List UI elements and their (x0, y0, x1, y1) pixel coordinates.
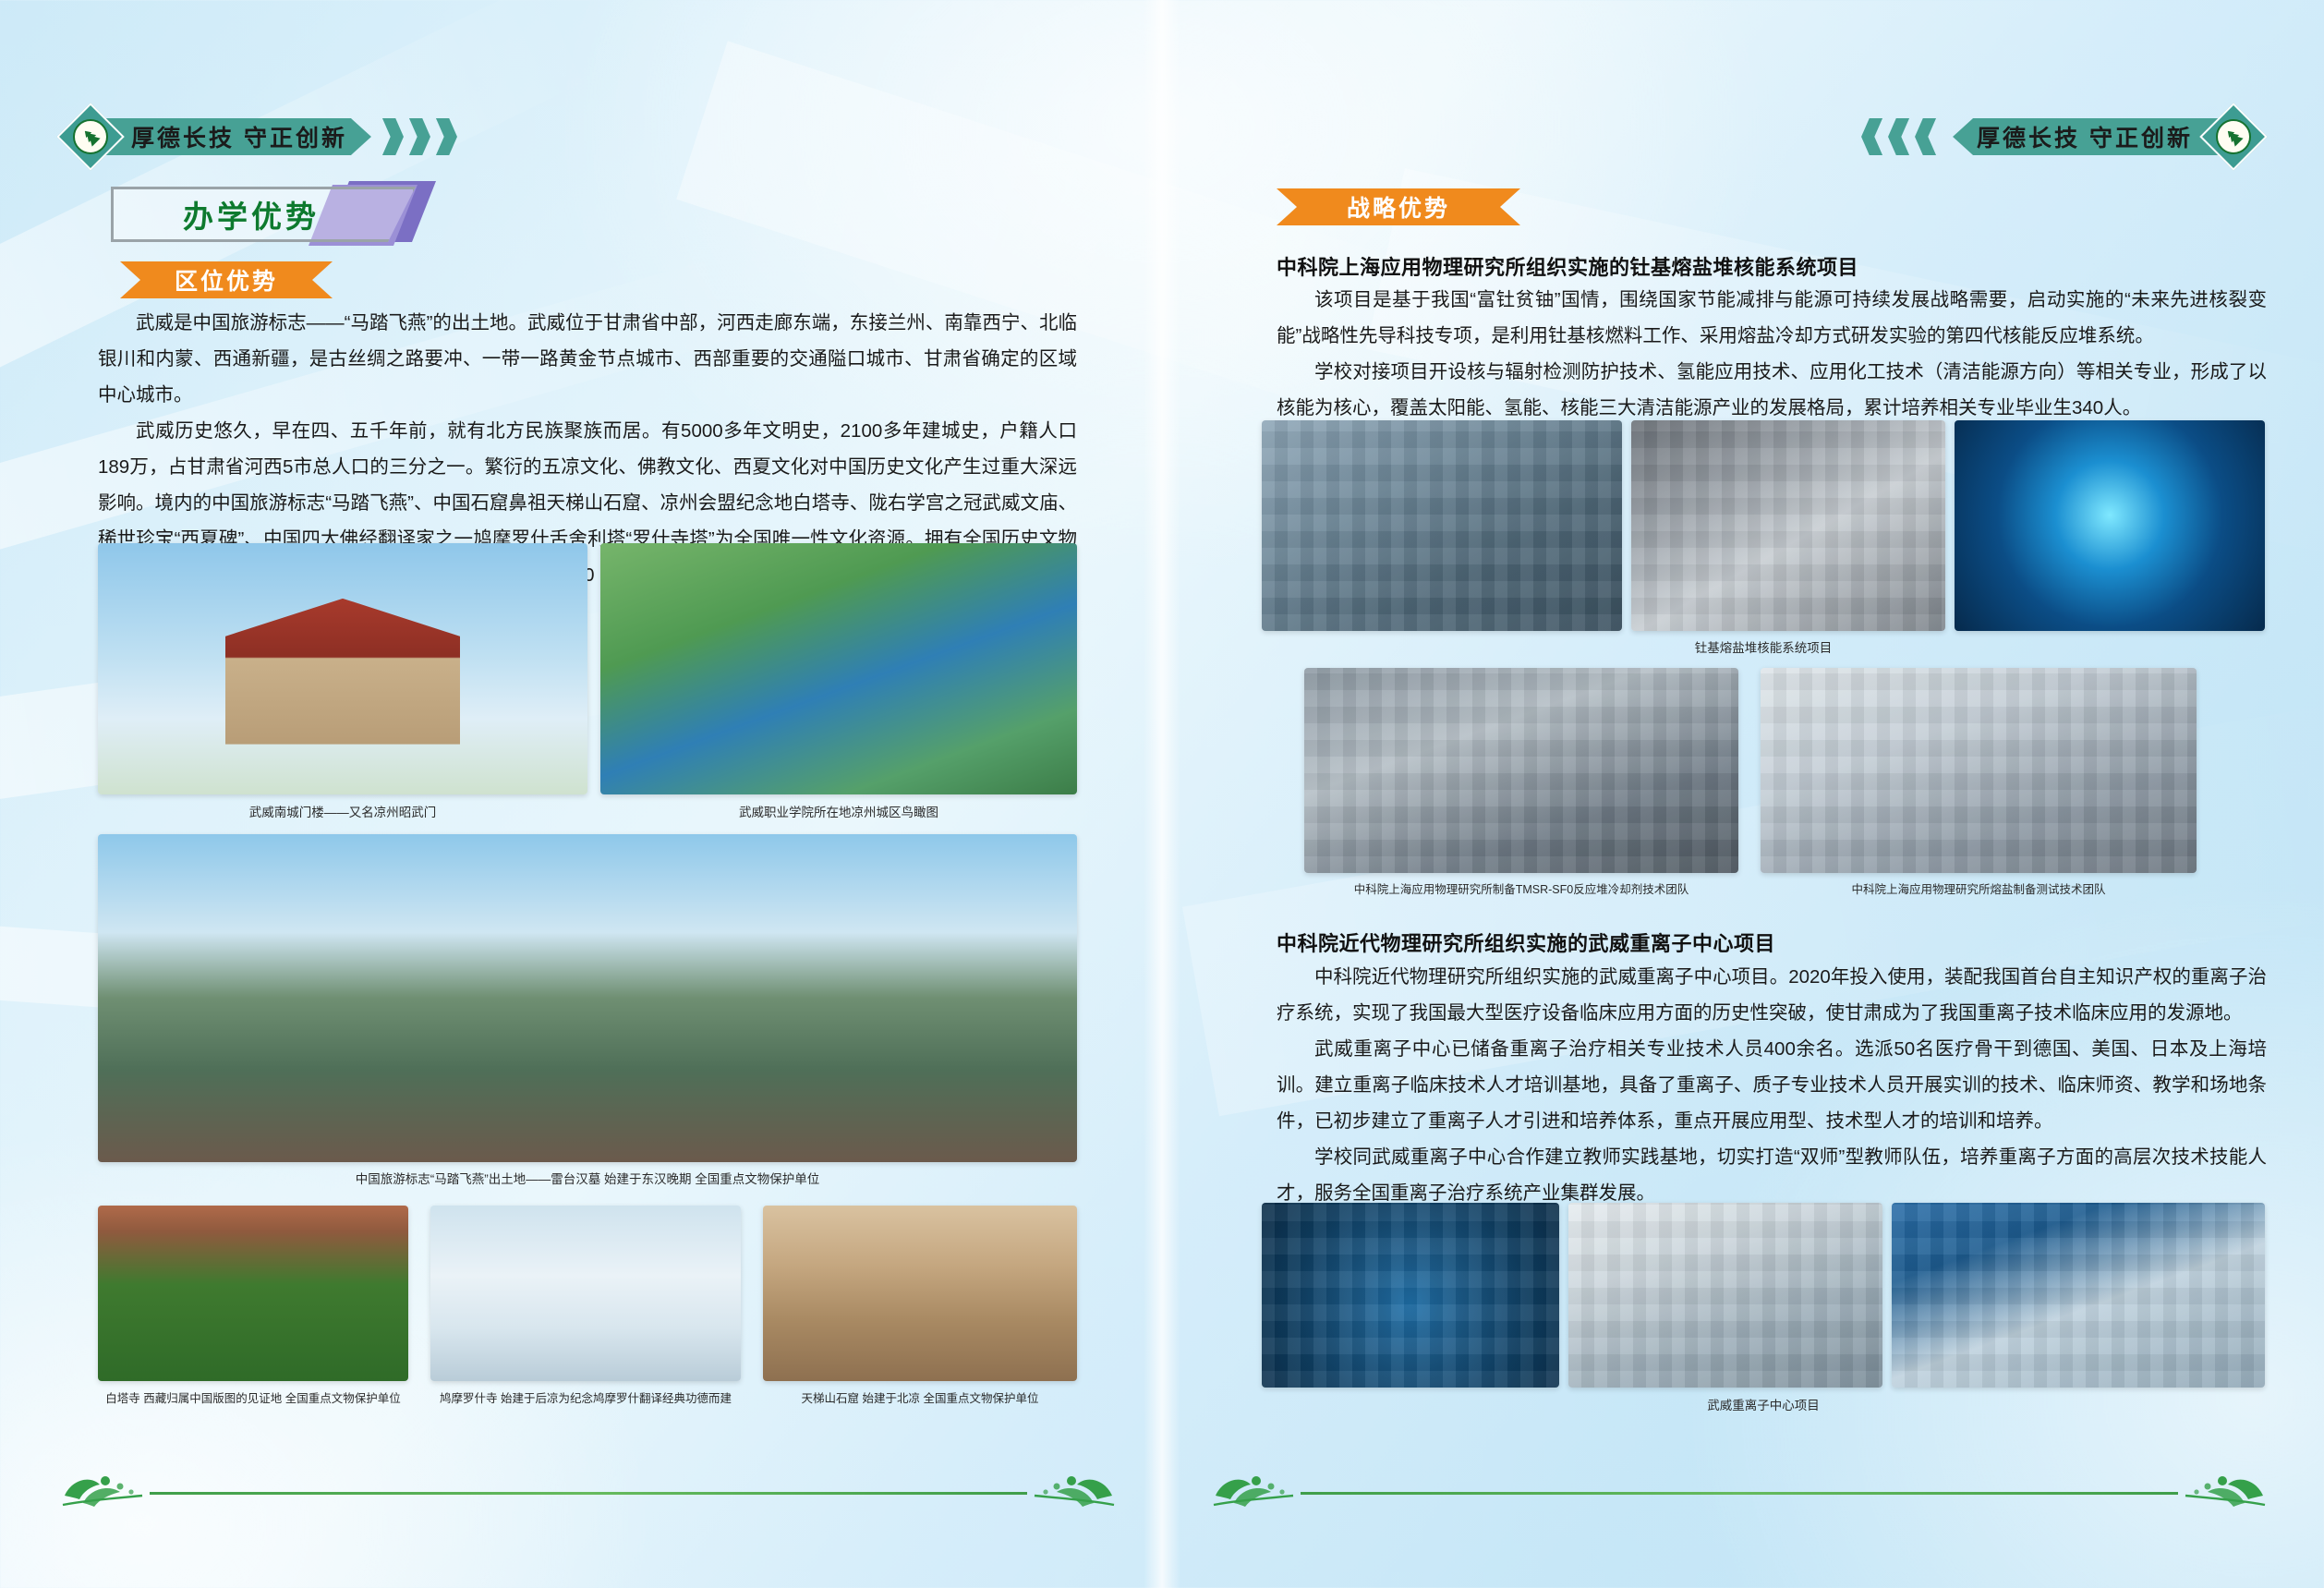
photo-caption: 中科院上海应用物理研究所制备TMSR-SF0反应堆冷却剂技术团队 (1286, 879, 1757, 897)
school-emblem-icon (56, 103, 125, 171)
leaf-flourish-icon (1029, 1468, 1118, 1509)
photo-caption: 武威南城门楼——又名凉州昭武门 (98, 802, 587, 820)
leaf-flourish-icon (1210, 1468, 1299, 1509)
paragraph: 学校对接项目开设核与辐射检测防护技术、氢能应用技术、应用化工技术（清洁能源方向）… (1277, 354, 2267, 426)
photo-control-console (1892, 1203, 2265, 1388)
chevron-group-icon (1861, 118, 1942, 155)
chevron-right-icon (382, 118, 404, 155)
photo-liangzhou-aerial-view (600, 543, 1077, 794)
paragraph: 武威是中国旅游标志——“马踏飞燕”的出土地。武威位于甘肃省中部，河西走廊东端，东… (98, 305, 1077, 413)
chevron-left-icon (1888, 118, 1909, 155)
page-title: 办学优势 (183, 192, 344, 236)
photo-caption: 天梯山石窟 始建于北凉 全国重点文物保护单位 (754, 1388, 1086, 1406)
paragraph: 学校同武威重离子中心合作建立教师实践基地，切实打造“双师”型教师队伍，培养重离子… (1277, 1139, 2267, 1211)
right-body-text-section2: 中科院近代物理研究所组织实施的武威重离子中心项目。2020年投入使用，装配我国首… (1277, 959, 2267, 1211)
photo-caption: 中国旅游标志“马踏飞燕”出土地——雷台汉墓 始建于东汉晚期 全国重点文物保护单位 (98, 1169, 1077, 1187)
footer-ornament-right (1217, 1468, 2261, 1510)
photo-caption: 鸠摩罗什寺 始建于后凉为纪念鸠摩罗什翻译经典功德而建 (421, 1388, 750, 1406)
photo-training-room (1568, 1203, 1882, 1388)
ribbon-label: 战略优势 (1347, 190, 1450, 224)
photo-tmsr-sf0-team (1304, 668, 1738, 873)
photo-caption: 中科院上海应用物理研究所熔盐制备测试技术团队 (1742, 879, 2215, 897)
ribbon-strategic-advantage: 战略优势 (1277, 188, 1520, 225)
title-plate-box: 办学优势 (111, 187, 416, 242)
photo-molten-salt-plant (1262, 420, 1622, 631)
chevron-left-icon (1861, 118, 1882, 155)
header-motto-text: 厚德长技 守正创新 (131, 120, 347, 153)
header-motto-bar: 厚德长技 守正创新 (91, 118, 371, 155)
photo-caption: 武威重离子中心项目 (1262, 1395, 2265, 1413)
photo-heavy-ion-accelerator (1262, 1203, 1559, 1388)
photo-caption: 钍基熔盐堆核能系统项目 (1262, 637, 2265, 656)
header-banner-left: 厚德长技 守正创新 (67, 115, 463, 158)
header-motto-text: 厚德长技 守正创新 (1977, 120, 2193, 153)
right-body-text-section1: 该项目是基于我国“富钍贫铀”国情，围绕国家节能减排与能源可持续发展战略需要，启动… (1277, 282, 2267, 426)
photo-bronze-chariot-array (98, 834, 1077, 1162)
ribbon-label: 区位优势 (175, 263, 278, 297)
photo-reactor-core (1955, 420, 2265, 631)
section-heading-thorium: 中科院上海应用物理研究所组织实施的钍基熔盐堆核能系统项目 (1277, 251, 2265, 281)
chevron-right-icon (409, 118, 430, 155)
photo-tianti-mountain-grottoes (763, 1206, 1077, 1381)
paragraph: 中科院近代物理研究所组织实施的武威重离子中心项目。2020年投入使用，装配我国首… (1277, 959, 2267, 1031)
photo-caption: 武威职业学院所在地凉州城区鸟瞰图 (600, 802, 1077, 820)
photo-caption: 白塔寺 西藏归属中国版图的见证地 全国重点文物保护单位 (89, 1388, 418, 1406)
ribbon-regional-advantage: 区位优势 (120, 261, 333, 298)
photo-baita-temple (98, 1206, 408, 1381)
leaf-flourish-icon (2180, 1468, 2269, 1509)
footer-rule (1301, 1492, 2178, 1495)
chevron-left-icon (1915, 118, 1936, 155)
leaf-flourish-icon (59, 1468, 148, 1509)
photo-reactor-vessel (1631, 420, 1945, 631)
footer-rule (150, 1492, 1027, 1495)
paragraph: 武威重离子中心已储备重离子治疗相关专业技术人员400余名。选派50名医疗骨干到德… (1277, 1031, 2267, 1139)
chevron-group-icon (382, 118, 463, 155)
footer-ornament-left (67, 1468, 1110, 1510)
paragraph: 该项目是基于我国“富钍贫铀”国情，围绕国家节能减排与能源可持续发展战略需要，启动… (1277, 282, 2267, 354)
section-heading-heavy-ion: 中科院近代物理研究所组织实施的武威重离子中心项目 (1277, 927, 2265, 957)
section-title-plate: 办学优势 (111, 181, 453, 240)
left-page: 厚德长技 守正创新 办学优势 区位优势 武威是中国旅游标志——“马踏飞燕”的出土… (0, 0, 1162, 1588)
chevron-right-icon (436, 118, 457, 155)
school-emblem-icon (2199, 103, 2268, 171)
photo-luoshi-pagoda (430, 1206, 741, 1381)
photo-salt-test-team (1761, 668, 2197, 873)
photo-wuwei-south-gate-tower (98, 543, 587, 794)
header-motto-bar: 厚德长技 守正创新 (1953, 118, 2233, 155)
header-banner-right: 厚德长技 守正创新 (1861, 115, 2257, 158)
